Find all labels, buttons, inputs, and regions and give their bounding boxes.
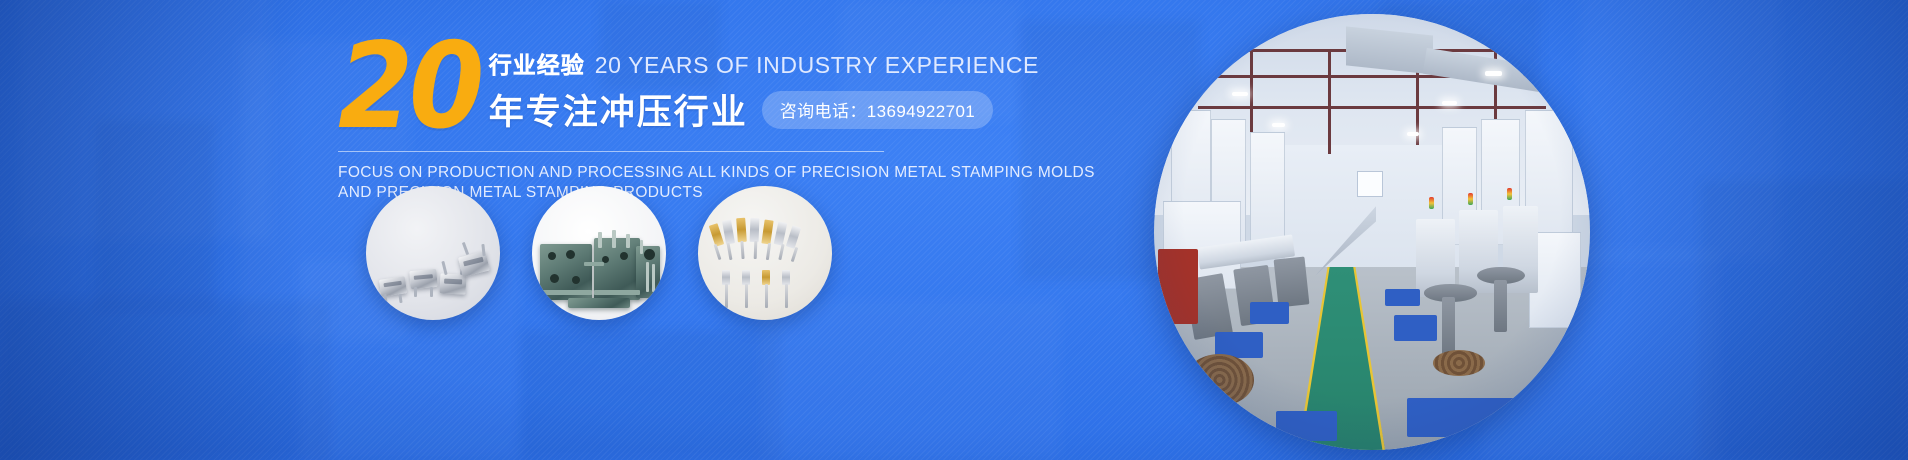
headline-row: 20 行业经验 20 YEARS OF INDUSTRY EXPERIENCE …: [338, 36, 938, 135]
headline-line-2: 年专注冲压行业 咨询电话：13694922701: [489, 84, 1039, 135]
industry-experience-cn: 行业经验: [489, 46, 585, 80]
product-circle-stamping-die[interactable]: [532, 186, 666, 320]
product-circle-metal-connectors[interactable]: [366, 186, 500, 320]
factory-workshop-photo[interactable]: [1154, 14, 1590, 450]
headline-block: 20 行业经验 20 YEARS OF INDUSTRY EXPERIENCE …: [338, 36, 938, 203]
subtitle-line-1: FOCUS ON PRODUCTION AND PROCESSING ALL K…: [338, 163, 898, 183]
product-circle-terminal-pins[interactable]: [698, 186, 832, 320]
phone-badge[interactable]: 咨询电话：13694922701: [762, 91, 993, 129]
product-circle-group: [366, 186, 832, 320]
headline-text-group: 行业经验 20 YEARS OF INDUSTRY EXPERIENCE 年专注…: [489, 36, 1039, 135]
industry-experience-en: 20 YEARS OF INDUSTRY EXPERIENCE: [595, 52, 1039, 79]
promo-banner: 20 行业经验 20 YEARS OF INDUSTRY EXPERIENCE …: [0, 0, 1908, 460]
stamping-focus-cn: 年专注冲压行业: [489, 84, 748, 135]
years-number: 20: [338, 36, 480, 136]
headline-line-1: 行业经验 20 YEARS OF INDUSTRY EXPERIENCE: [489, 46, 1039, 80]
